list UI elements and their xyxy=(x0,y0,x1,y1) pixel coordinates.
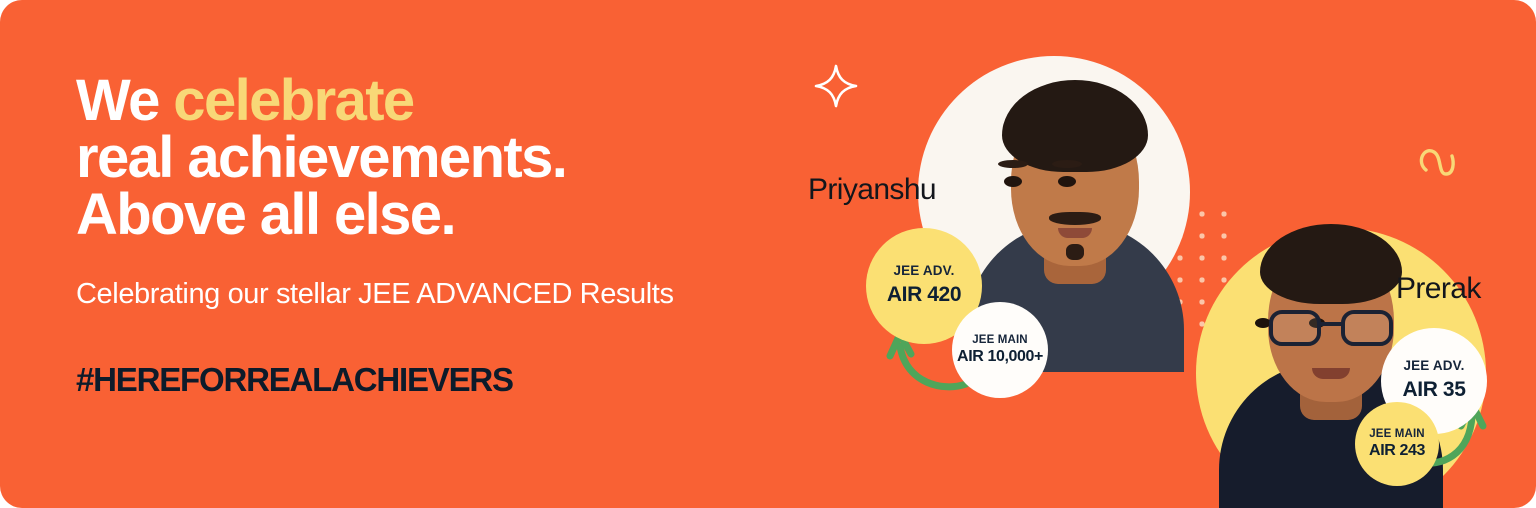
moustache xyxy=(1049,212,1101,225)
hair xyxy=(1002,80,1148,172)
eyeglasses-icon xyxy=(1265,304,1397,348)
badge-rank-value: AIR 420 xyxy=(887,282,961,307)
results-promo-banner: We celebrate real achievements. Above al… xyxy=(0,0,1536,508)
student-name-priyanshu: Priyanshu xyxy=(808,173,936,207)
headline-accent-text: celebrate xyxy=(173,68,413,133)
soul-patch xyxy=(1066,244,1084,260)
badge-exam-label: JEE ADV. xyxy=(1404,359,1465,374)
campaign-hashtag: #HEREFORREALACHIEVERS xyxy=(76,361,513,399)
badge-exam-label: JEE MAIN xyxy=(1369,428,1425,441)
badge-rank-value: AIR 10,000+ xyxy=(957,347,1043,366)
badge-exam-label: JEE MAIN xyxy=(972,334,1028,347)
headline-line-1: We celebrate xyxy=(76,72,806,129)
headline-line-3: Above all else. xyxy=(76,186,806,243)
mouth xyxy=(1312,368,1350,379)
badge-rank-value: AIR 35 xyxy=(1403,377,1466,402)
headline-plain-text: We xyxy=(76,68,173,133)
hair xyxy=(1260,224,1402,304)
subheadline: Celebrating our stellar JEE ADVANCED Res… xyxy=(76,278,674,311)
eyebrow-right xyxy=(1052,160,1082,168)
mouth xyxy=(1058,228,1092,238)
eyebrow-left xyxy=(998,160,1028,168)
badge-jee-main-priyanshu: JEE MAIN AIR 10,000+ xyxy=(952,302,1048,398)
eye-right xyxy=(1058,176,1076,187)
badge-exam-label: JEE ADV. xyxy=(894,264,955,279)
eye-left xyxy=(1004,176,1022,187)
headline-block: We celebrate real achievements. Above al… xyxy=(76,72,806,243)
four-point-star-icon xyxy=(812,62,860,110)
badge-rank-value: AIR 243 xyxy=(1369,441,1425,460)
page-title: We celebrate real achievements. Above al… xyxy=(76,72,806,243)
headline-line-2: real achievements. xyxy=(76,129,806,186)
curl-squiggle-icon xyxy=(1412,134,1468,190)
student-name-prerak: Prerak xyxy=(1396,272,1481,306)
badge-jee-main-prerak: JEE MAIN AIR 243 xyxy=(1355,402,1439,486)
